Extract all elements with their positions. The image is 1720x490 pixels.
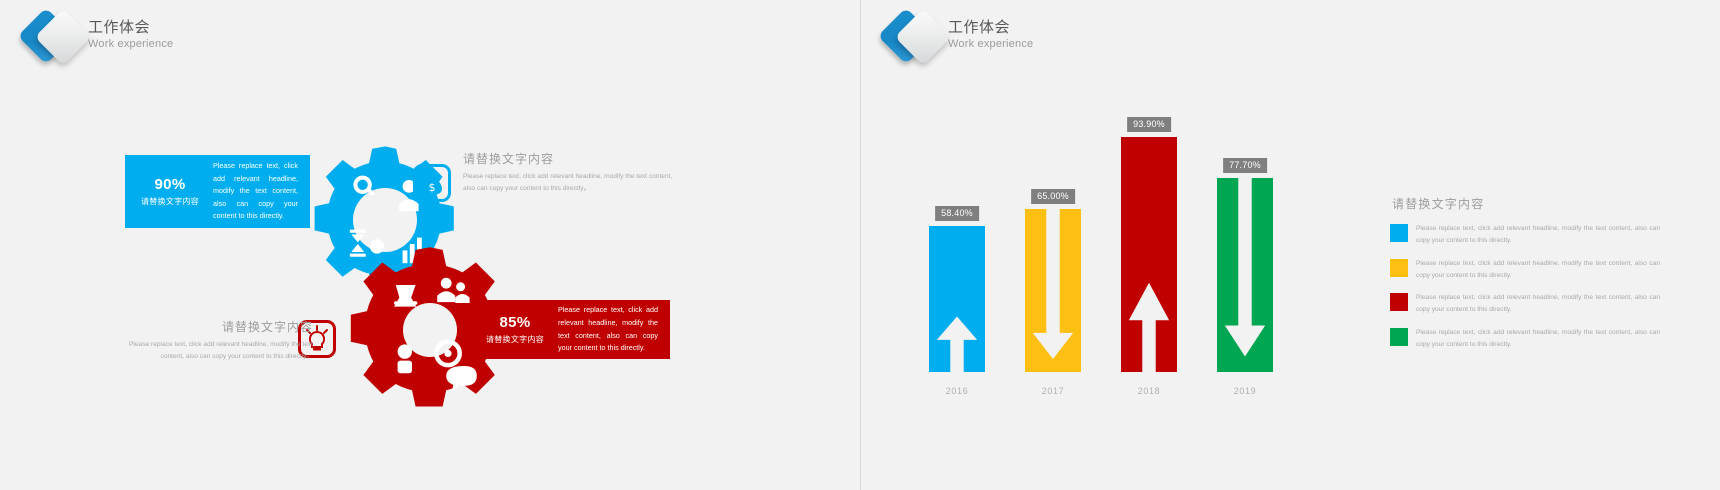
page-subtitle: Work experience bbox=[88, 38, 173, 50]
bar-category-label: 2019 bbox=[1208, 386, 1282, 396]
text-block-top: 请替换文字内容 Please replace text, click add r… bbox=[463, 150, 678, 195]
bar-value-label: 93.90% bbox=[1127, 117, 1171, 132]
stat-box-blue-percent-col: 90% 请替换文字内容 bbox=[125, 176, 209, 207]
bar-body[interactable] bbox=[929, 226, 985, 372]
slide-divider bbox=[860, 0, 861, 490]
bar-body[interactable] bbox=[1025, 209, 1081, 372]
page-subtitle: Work experience bbox=[948, 38, 1033, 50]
bar-chart-columns: 58.40%201665.00%201793.90%201877.70%2019 bbox=[920, 122, 1340, 372]
bar-value-label: 58.40% bbox=[935, 206, 979, 221]
slide-header-left: 工作体会 Work experience bbox=[0, 0, 860, 80]
legend-item[interactable]: Please replace text, click add relevant … bbox=[1390, 223, 1660, 247]
slide-header-right: 工作体会 Work experience bbox=[860, 0, 1720, 80]
header-titles: 工作体会 Work experience bbox=[88, 18, 173, 50]
slide-right: 工作体会 Work experience 58.40%201665.00%201… bbox=[860, 0, 1720, 490]
legend-item-text: Please replace text, click add relevant … bbox=[1416, 223, 1660, 247]
legend-color-swatch bbox=[1390, 293, 1408, 311]
bar-column[interactable]: 65.00%2017 bbox=[1016, 122, 1090, 372]
text-block-top-body: Please replace text, click add relevant … bbox=[463, 171, 678, 195]
legend-item-text: Please replace text, click add relevant … bbox=[1416, 292, 1660, 316]
stat-box-blue[interactable]: 90% 请替换文字内容 Please replace text, click a… bbox=[125, 155, 310, 228]
legend-item[interactable]: Please replace text, click add relevant … bbox=[1390, 327, 1660, 351]
text-block-bottom: 请替换文字内容 Please replace text, click add r… bbox=[108, 318, 313, 363]
header-titles: 工作体会 Work experience bbox=[948, 18, 1033, 50]
bar-value-label: 77.70% bbox=[1223, 158, 1267, 173]
bar-chart: 58.40%201665.00%201793.90%201877.70%2019 bbox=[920, 120, 1340, 400]
legend-item-text: Please replace text, click add relevant … bbox=[1416, 258, 1660, 282]
stat-box-red[interactable]: 85% 请替换文字内容 Please replace text, click a… bbox=[470, 300, 670, 359]
legend-color-swatch bbox=[1390, 328, 1408, 346]
page-title: 工作体会 bbox=[88, 18, 173, 37]
legend-item[interactable]: Please replace text, click add relevant … bbox=[1390, 292, 1660, 316]
bar-category-label: 2017 bbox=[1016, 386, 1090, 396]
slide-deck: 工作体会 Work experience bbox=[0, 0, 1720, 490]
bar-column[interactable]: 93.90%2018 bbox=[1112, 122, 1186, 372]
stat-box-red-description: Please replace text, click add relevant … bbox=[554, 304, 670, 354]
text-block-bottom-heading: 请替换文字内容 bbox=[108, 318, 313, 335]
bar-category-label: 2018 bbox=[1112, 386, 1186, 396]
svg-text:$: $ bbox=[429, 181, 436, 194]
text-block-top-heading: 请替换文字内容 bbox=[463, 150, 678, 167]
legend-color-swatch bbox=[1390, 224, 1408, 242]
legend-item-text: Please replace text, click add relevant … bbox=[1416, 327, 1660, 351]
text-block-bottom-body: Please replace text, click add relevant … bbox=[108, 339, 313, 363]
bar-column[interactable]: 77.70%2019 bbox=[1208, 122, 1282, 372]
bar-body[interactable] bbox=[1121, 137, 1177, 372]
stat-box-blue-description: Please replace text, click add relevant … bbox=[209, 160, 310, 223]
stat-box-red-percent-sub: 请替换文字内容 bbox=[476, 334, 554, 345]
legend-rows: Please replace text, click add relevant … bbox=[1390, 223, 1660, 351]
legend-heading: 请替换文字内容 bbox=[1390, 195, 1660, 212]
stat-box-blue-percent-sub: 请替换文字内容 bbox=[131, 196, 209, 207]
stat-box-red-percent-col: 85% 请替换文字内容 bbox=[470, 314, 554, 345]
stat-box-blue-percent: 90% bbox=[131, 176, 209, 193]
legend-color-swatch bbox=[1390, 259, 1408, 277]
page-title: 工作体会 bbox=[948, 18, 1033, 37]
bar-category-label: 2016 bbox=[920, 386, 994, 396]
slide-left: 工作体会 Work experience bbox=[0, 0, 860, 490]
bar-value-label: 65.00% bbox=[1031, 189, 1075, 204]
money-bag-icon[interactable]: $ bbox=[413, 164, 451, 202]
bar-column[interactable]: 58.40%2016 bbox=[920, 122, 994, 372]
legend-item[interactable]: Please replace text, click add relevant … bbox=[1390, 258, 1660, 282]
chart-legend: 请替换文字内容 Please replace text, click add r… bbox=[1390, 195, 1660, 362]
stat-box-red-percent: 85% bbox=[476, 314, 554, 331]
bar-body[interactable] bbox=[1217, 178, 1273, 372]
